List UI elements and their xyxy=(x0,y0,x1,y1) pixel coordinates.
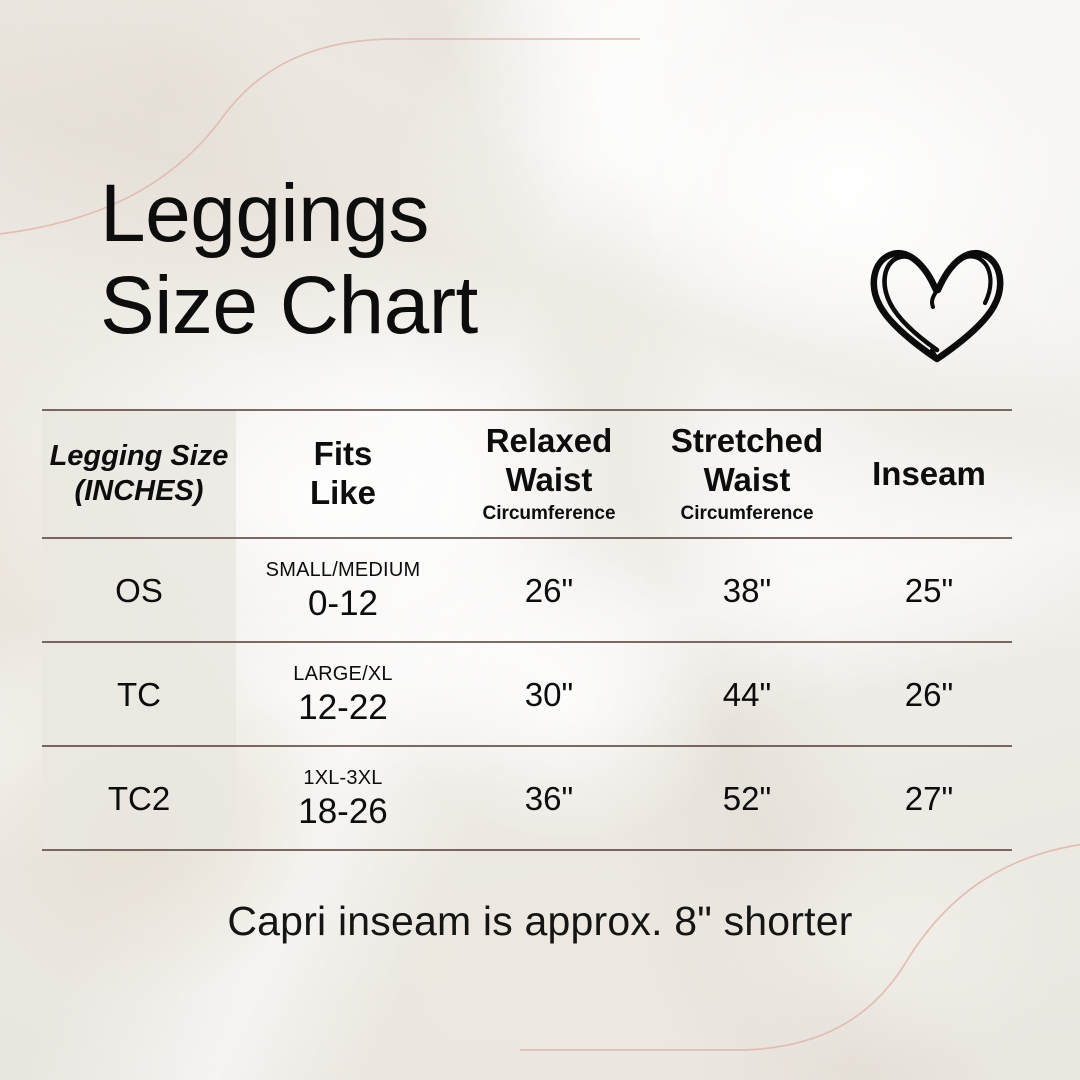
cell-fits-like: 1XL-3XL 18-26 xyxy=(236,747,450,851)
column-header-inseam: Inseam xyxy=(846,409,1012,539)
page-title: Leggings Size Chart xyxy=(100,168,720,352)
column-header-label: Relaxed Waist xyxy=(486,422,613,500)
fits-like-range: 0-12 xyxy=(308,584,378,624)
table-header-row: Legging Size (INCHES) Fits Like Relaxed … xyxy=(42,409,1012,539)
table-rule-bottom xyxy=(42,849,1012,851)
cell-relaxed-waist: 26" xyxy=(450,539,648,643)
stretched-waist-value: 38" xyxy=(723,572,771,610)
column-header-label: Inseam xyxy=(872,455,986,494)
inseam-value: 25" xyxy=(905,572,953,610)
column-header-legging-size: Legging Size (INCHES) xyxy=(42,409,236,539)
column-header-stretched-waist: Stretched Waist Circumference xyxy=(648,409,846,539)
column-header-fits-like: Fits Like xyxy=(236,409,450,539)
stretched-waist-value: 44" xyxy=(723,676,771,714)
column-header-relaxed-waist: Relaxed Waist Circumference xyxy=(450,409,648,539)
table-row: OS SMALL/MEDIUM 0-12 26" 38" 25" xyxy=(42,539,1012,643)
column-header-sublabel: Circumference xyxy=(680,502,813,526)
cell-inseam: 27" xyxy=(846,747,1012,851)
table-rule-top xyxy=(42,409,1012,411)
fits-like-label: LARGE/XL xyxy=(293,662,392,686)
fits-like-label: 1XL-3XL xyxy=(303,766,382,790)
column-header-sublabel: Circumference xyxy=(482,502,615,526)
column-header-label: Legging Size (INCHES) xyxy=(50,439,229,510)
cell-stretched-waist: 38" xyxy=(648,539,846,643)
size-chart-table: Legging Size (INCHES) Fits Like Relaxed … xyxy=(42,409,1012,851)
inseam-value: 27" xyxy=(905,780,953,818)
fits-like-label: SMALL/MEDIUM xyxy=(266,558,421,582)
column-header-label: Fits Like xyxy=(310,435,376,513)
cell-inseam: 25" xyxy=(846,539,1012,643)
table-row: TC2 1XL-3XL 18-26 36" 52" 27" xyxy=(42,747,1012,851)
relaxed-waist-value: 30" xyxy=(525,676,573,714)
relaxed-waist-value: 26" xyxy=(525,572,573,610)
heart-doodle-icon xyxy=(862,228,1012,363)
cell-fits-like: SMALL/MEDIUM 0-12 xyxy=(236,539,450,643)
cell-size: TC xyxy=(42,643,236,747)
column-header-label: Stretched Waist xyxy=(671,422,823,500)
relaxed-waist-value: 36" xyxy=(525,780,573,818)
inseam-value: 26" xyxy=(905,676,953,714)
cell-size: OS xyxy=(42,539,236,643)
fits-like-range: 12-22 xyxy=(298,688,388,728)
table-row: TC LARGE/XL 12-22 30" 44" 26" xyxy=(42,643,1012,747)
fits-like-range: 18-26 xyxy=(298,792,388,832)
stretched-waist-value: 52" xyxy=(723,780,771,818)
cell-stretched-waist: 44" xyxy=(648,643,846,747)
cell-fits-like: LARGE/XL 12-22 xyxy=(236,643,450,747)
size-value: OS xyxy=(115,572,163,610)
size-chart-canvas: Leggings Size Chart Legging Size (INCHES… xyxy=(0,0,1080,1080)
size-value: TC xyxy=(117,676,161,714)
cell-inseam: 26" xyxy=(846,643,1012,747)
cell-stretched-waist: 52" xyxy=(648,747,846,851)
cell-relaxed-waist: 30" xyxy=(450,643,648,747)
cell-size: TC2 xyxy=(42,747,236,851)
footer-note: Capri inseam is approx. 8" shorter xyxy=(0,898,1080,945)
size-value: TC2 xyxy=(108,780,170,818)
cell-relaxed-waist: 36" xyxy=(450,747,648,851)
